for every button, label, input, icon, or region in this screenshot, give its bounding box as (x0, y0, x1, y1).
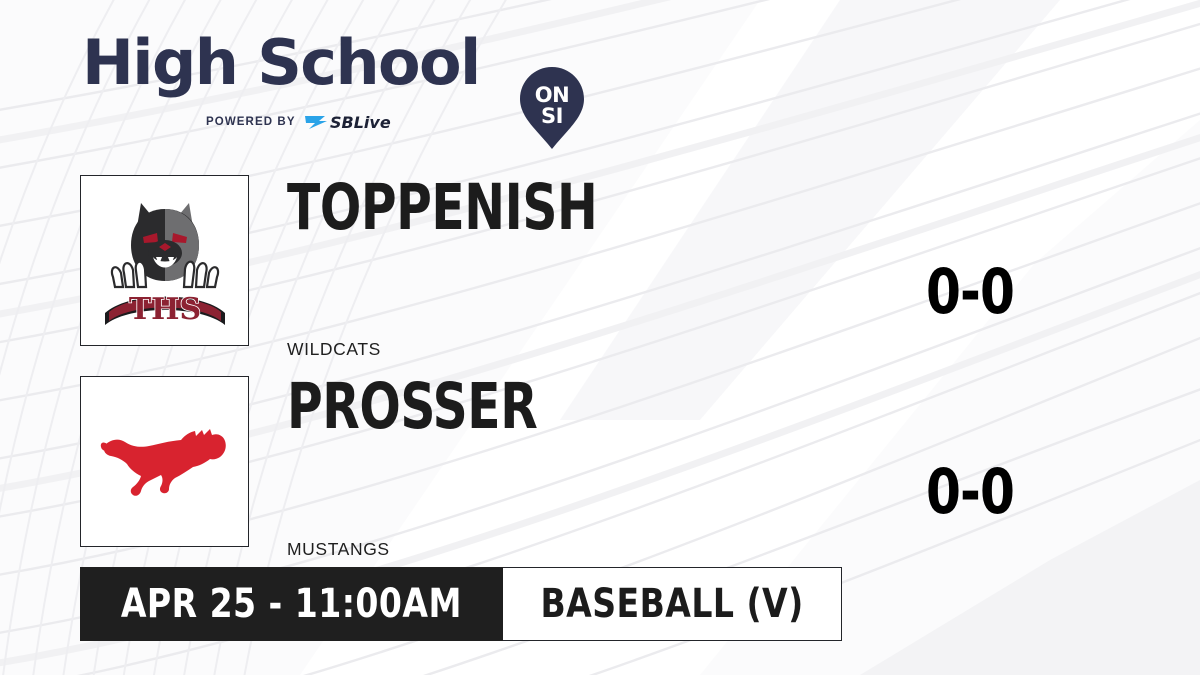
game-datetime-chip: APR 25 - 11:00AM (80, 567, 503, 641)
brand-lockup: High School ON SI POWERED BY SBLive (82, 32, 512, 134)
scoreboard-card: High School ON SI POWERED BY SBLive (0, 0, 1200, 675)
team-score: 0-0 (889, 461, 1051, 523)
team-logo-box: THS (80, 175, 249, 346)
sblive-wordmark: SBLive (330, 113, 391, 132)
team-name: PROSSER (287, 375, 537, 438)
game-sport-chip: BASEBALL (V) (503, 567, 842, 641)
powered-by-label: POWERED BY (206, 116, 296, 128)
info-banner: APR 25 - 11:00AM BASEBALL (V) (80, 567, 842, 641)
team-mascot: WILDCATS (287, 339, 381, 360)
prosser-mustangs-horse-logo-icon (99, 419, 231, 505)
toppenish-wildcats-ths-logo-icon: THS (99, 193, 231, 329)
ths-monogram: THS (128, 292, 200, 327)
pin-line-2: SI (541, 104, 563, 128)
on-si-pin-icon: ON SI (519, 66, 585, 150)
game-datetime-label: APR 25 - 11:00AM (121, 584, 462, 624)
team-name: TOPPENISH (287, 176, 597, 239)
brand-wordmark: High School (82, 32, 512, 94)
team-logo-box (80, 376, 249, 547)
team-score: 0-0 (889, 261, 1051, 323)
sblive-logo-icon: SBLive (303, 112, 409, 132)
team-mascot: MUSTANGS (287, 539, 390, 560)
powered-by-row: POWERED BY SBLive (206, 112, 409, 132)
game-sport-label: BASEBALL (V) (540, 584, 803, 624)
